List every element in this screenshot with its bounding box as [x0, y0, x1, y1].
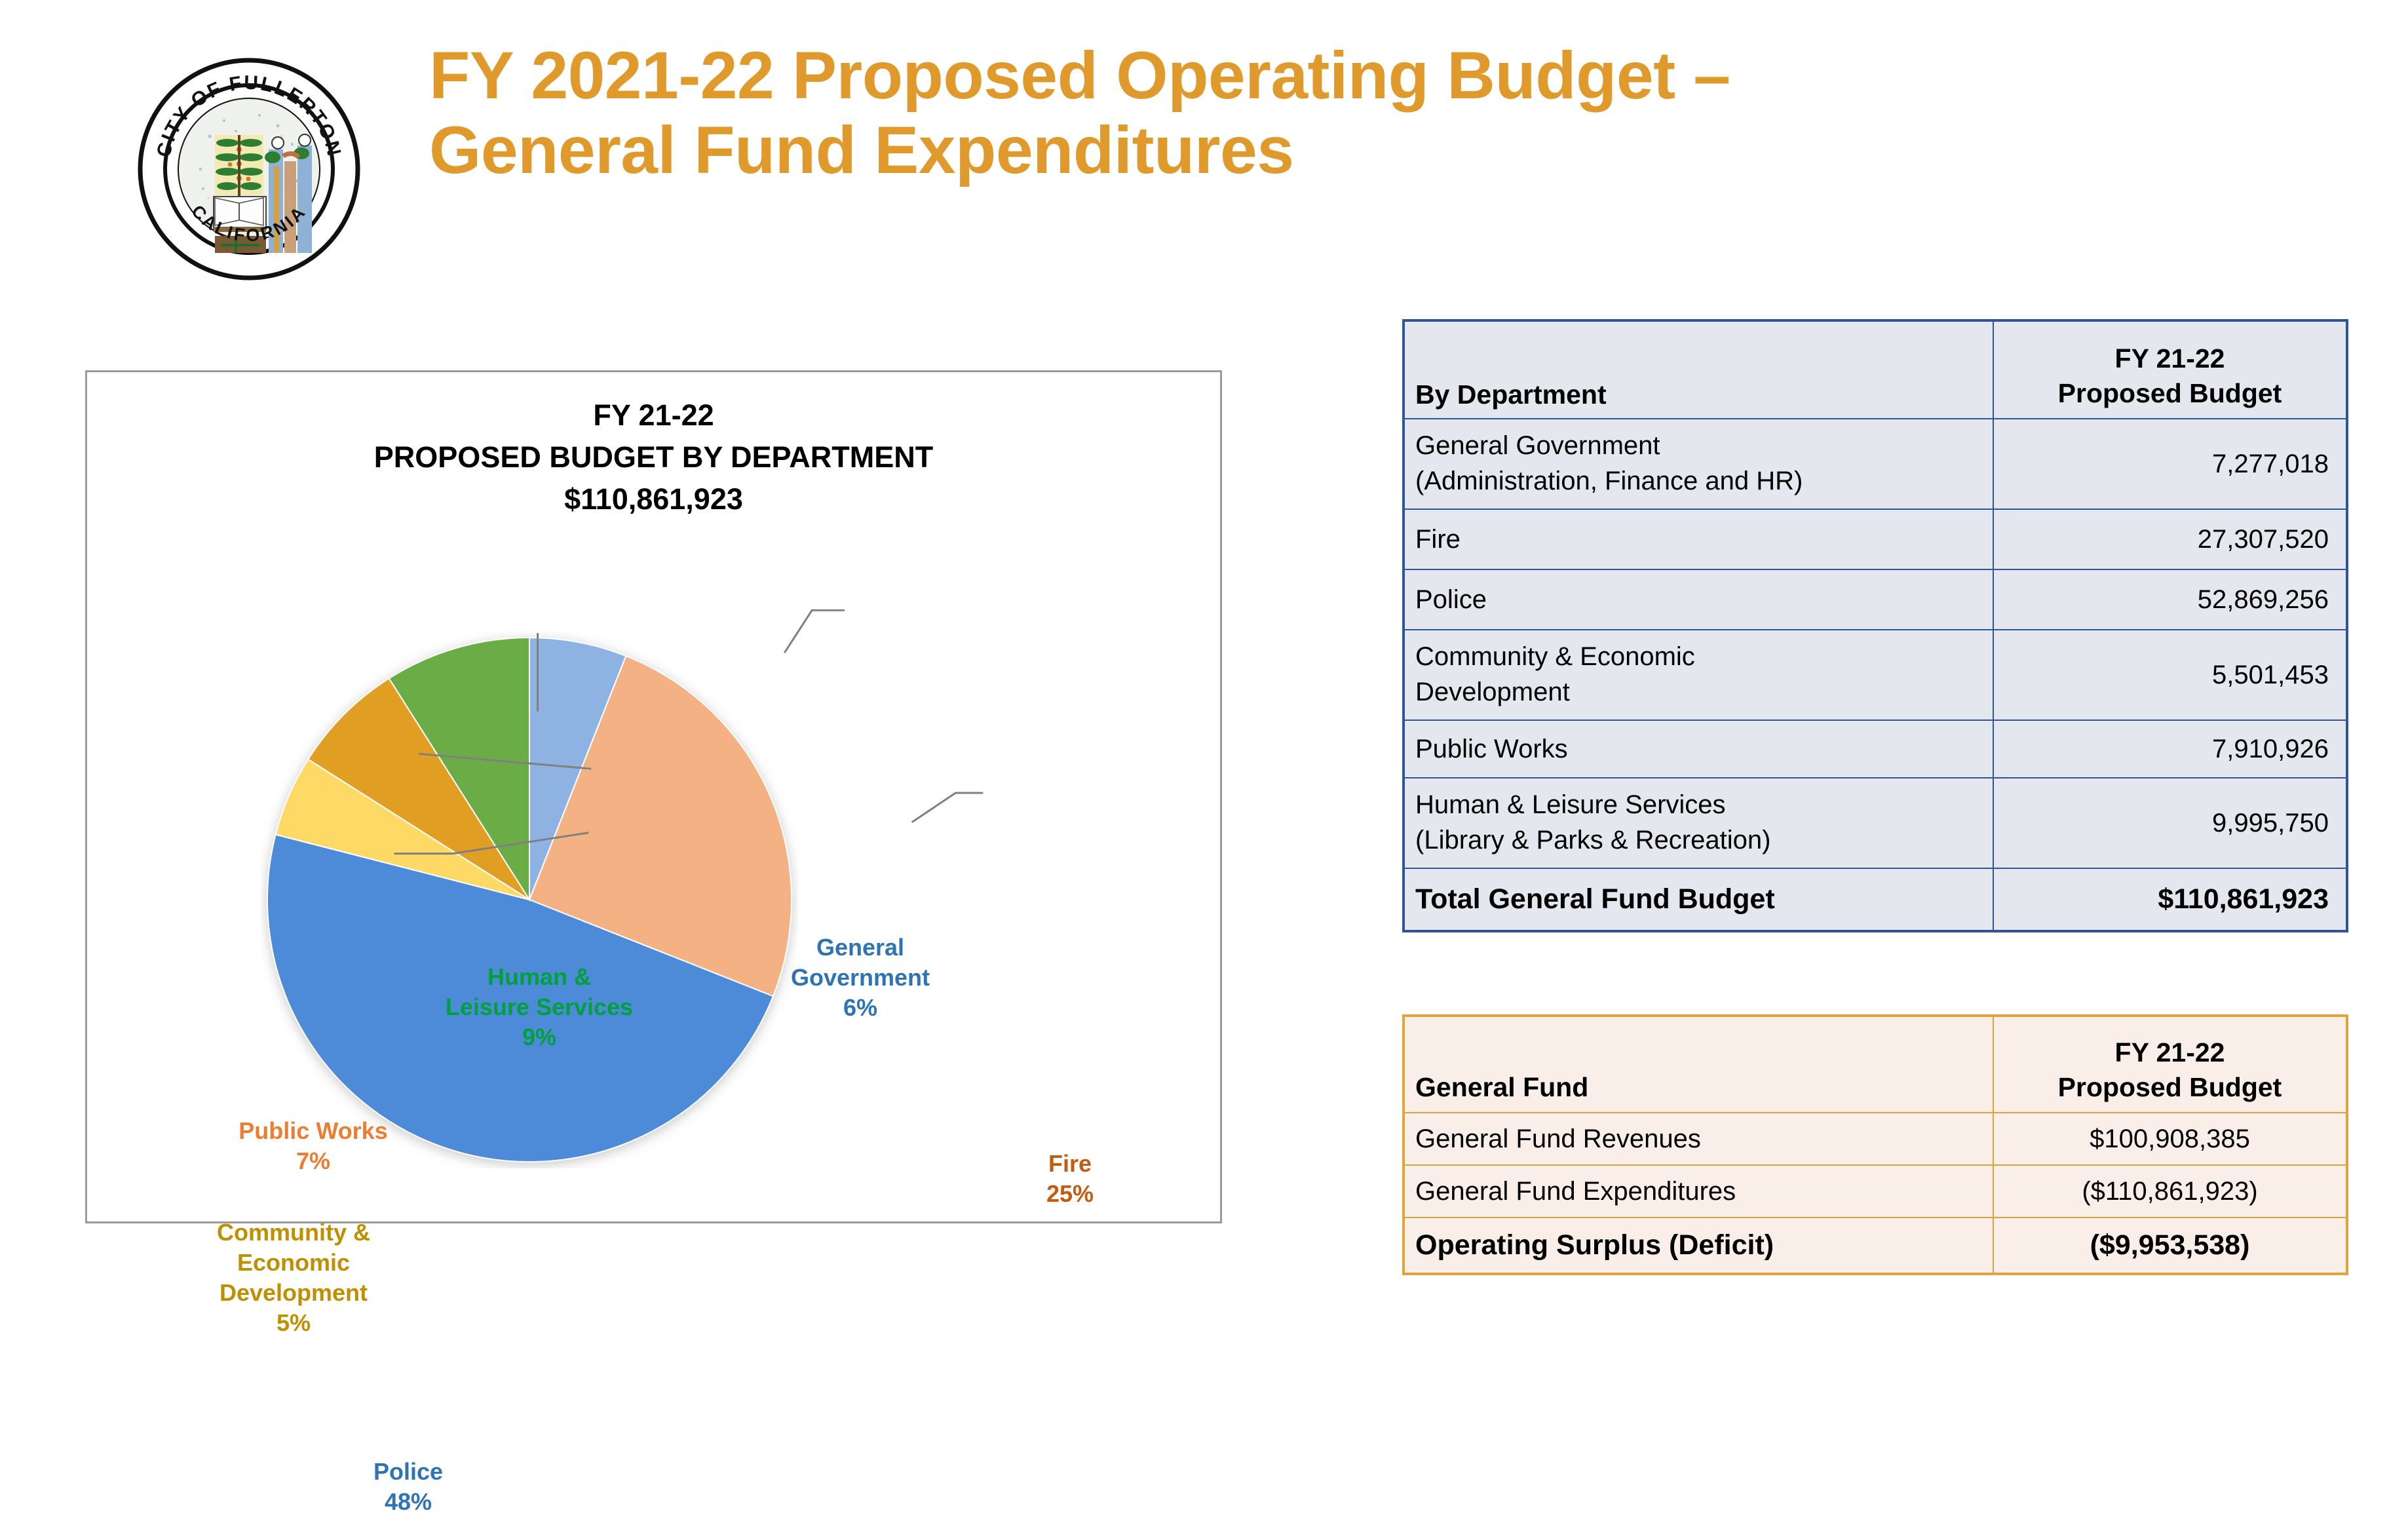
- seal-graphic: CITY OF FULLERTON CALIFORNIA: [138, 58, 360, 280]
- general-fund-summary-table: General Fund FY 21-22 Proposed Budget Ge…: [1402, 1014, 2348, 1275]
- table-row: Community & Economic Development 5,501,4…: [1404, 630, 2347, 720]
- pie-label-police: Police 48%: [330, 1457, 487, 1517]
- table-total-row: Total General Fund Budget $110,861,923: [1404, 868, 2347, 931]
- table-row: General Fund Expenditures ($110,861,923): [1404, 1165, 2347, 1218]
- header-fy-proposed-budget: FY 21-22 Proposed Budget: [1993, 1016, 2347, 1113]
- page-title: FY 2021-22 Proposed Operating Budget – G…: [429, 38, 2238, 187]
- table-header-row: By Department FY 21-22 Proposed Budget: [1404, 320, 2347, 419]
- row-label-general-fund-revenues: General Fund Revenues: [1404, 1113, 1993, 1165]
- row-label-community-economic-development: Community & Economic Development: [1404, 630, 1993, 720]
- total-label: Total General Fund Budget: [1404, 868, 1993, 931]
- row-value-community-economic-development: 5,501,453: [1993, 630, 2347, 720]
- total-value: $110,861,923: [1993, 868, 2347, 931]
- pie-label-fire: Fire 25%: [991, 1149, 1149, 1209]
- row-label-line-1: Human & Leisure Services: [1415, 788, 1982, 823]
- table-header-row: General Fund FY 21-22 Proposed Budget: [1404, 1016, 2347, 1113]
- row-label-fire: Fire: [1404, 509, 1993, 569]
- row-label-human-leisure-services: Human & Leisure Services (Library & Park…: [1404, 778, 1993, 868]
- row-label-line-1: Community & Economic: [1415, 640, 1982, 675]
- row-value-public-works: 7,910,926: [1993, 720, 2347, 778]
- row-value-police: 52,869,256: [1993, 569, 2347, 630]
- department-budget-table: By Department FY 21-22 Proposed Budget G…: [1402, 319, 2348, 932]
- header-fy-line-2: Proposed Budget: [2004, 376, 2335, 410]
- pie-label-community-economic-development: Community & Economic Development 5%: [189, 1218, 398, 1338]
- row-value-human-leisure-services: 9,995,750: [1993, 778, 2347, 868]
- table-total-row: Operating Surplus (Deficit) ($9,953,538): [1404, 1218, 2347, 1274]
- table-row: Fire 27,307,520: [1404, 509, 2347, 569]
- table-row: Human & Leisure Services (Library & Park…: [1404, 778, 2347, 868]
- table-row: Public Works 7,910,926: [1404, 720, 2347, 778]
- row-value-general-fund-revenues: $100,908,385: [1993, 1113, 2347, 1165]
- header-fy-proposed-budget: FY 21-22 Proposed Budget: [1993, 320, 2347, 419]
- row-label-police: Police: [1404, 569, 1993, 630]
- pie-label-public-works: Public Works 7%: [212, 1116, 415, 1176]
- page-title-line-2: General Fund Expenditures: [429, 113, 2238, 187]
- pie-label-general-government: General Government 6%: [762, 932, 959, 1023]
- table-row: General Fund Revenues $100,908,385: [1404, 1113, 2347, 1165]
- header-fy-line-1: FY 21-22: [2004, 341, 2335, 375]
- pie-chart-panel: FY 21-22 PROPOSED BUDGET BY DEPARTMENT $…: [85, 370, 1222, 1223]
- header-by-department: By Department: [1404, 320, 1993, 419]
- city-of-fullerton-seal: CITY OF FULLERTON CALIFORNIA: [138, 58, 360, 280]
- row-value-general-government: 7,277,018: [1993, 419, 2347, 509]
- pie-label-human-leisure-services: Human & Leisure Services 9%: [421, 962, 657, 1052]
- pie-chart-area: Human & Leisure Services 9% General Gove…: [87, 372, 1220, 1221]
- row-label-line-2: (Library & Parks & Recreation): [1415, 823, 1982, 858]
- row-label-public-works: Public Works: [1404, 720, 1993, 778]
- row-value-fire: 27,307,520: [1993, 509, 2347, 569]
- page-title-line-1: FY 2021-22 Proposed Operating Budget –: [429, 38, 2238, 113]
- pie-chart-svg: [261, 631, 798, 1168]
- header-fy-line-1: FY 21-22: [2004, 1035, 2335, 1069]
- total-label-operating-surplus-deficit: Operating Surplus (Deficit): [1404, 1218, 1993, 1274]
- row-label-general-fund-expenditures: General Fund Expenditures: [1404, 1165, 1993, 1218]
- header-fy-line-2: Proposed Budget: [2004, 1070, 2335, 1104]
- row-label-line-2: (Administration, Finance and HR): [1415, 464, 1982, 499]
- row-label-general-government: General Government (Administration, Fina…: [1404, 419, 1993, 509]
- row-label-line-2: Development: [1415, 675, 1982, 710]
- table-row: Police 52,869,256: [1404, 569, 2347, 630]
- row-label-line-1: General Government: [1415, 429, 1982, 464]
- total-value-operating-surplus-deficit: ($9,953,538): [1993, 1218, 2347, 1274]
- header-general-fund: General Fund: [1404, 1016, 1993, 1113]
- row-value-general-fund-expenditures: ($110,861,923): [1993, 1165, 2347, 1218]
- table-row: General Government (Administration, Fina…: [1404, 419, 2347, 509]
